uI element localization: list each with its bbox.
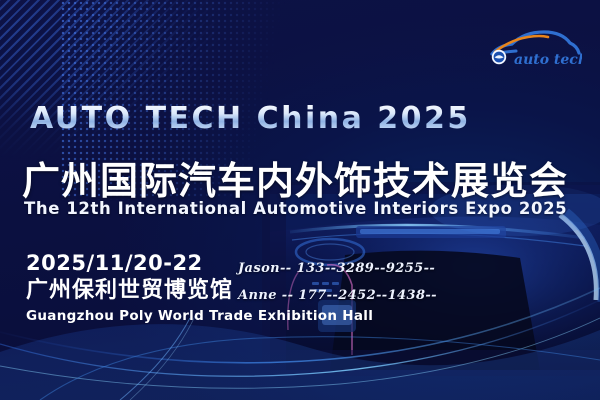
logo-text: auto tech (514, 52, 582, 68)
subtitle-english: The 12th International Automotive Interi… (24, 199, 567, 218)
venue-english: Guangzhou Poly World Trade Exhibition Ha… (26, 306, 373, 326)
title-chinese: 广州国际汽车内外饰技术展览会 (22, 150, 568, 205)
auto-tech-logo[interactable]: auto tech (482, 26, 582, 72)
title-english: AUTO TECH China 2025 (30, 101, 471, 136)
contact-jason: Jason-- 133--3289--9255-- (238, 255, 437, 282)
contact-block: Jason-- 133--3289--9255-- Anne -- 177--2… (238, 255, 437, 309)
exhibition-poster: auto tech AUTO TECH China 2025 广州国际汽车内外饰… (0, 0, 600, 400)
contact-anne: Anne -- 177--2452--1438-- (238, 282, 437, 309)
